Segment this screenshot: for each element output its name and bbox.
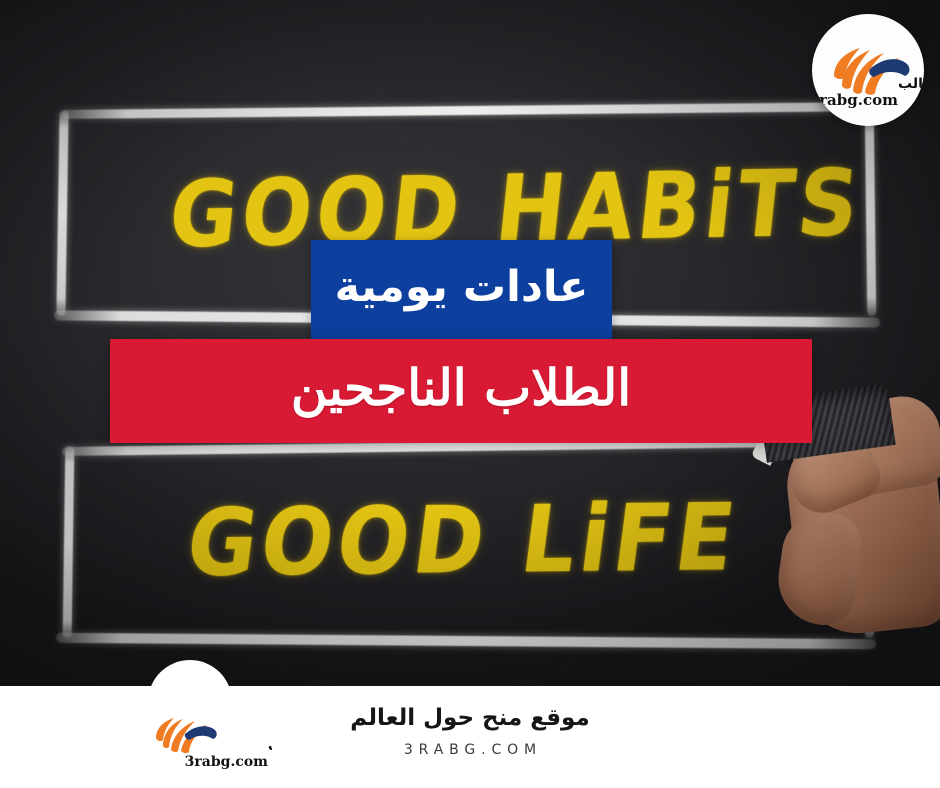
poster: GOOD HABiTS GOOD LiFE عادات يومية الطلاب… xyxy=(0,0,940,788)
footer-tagline: موقع منح حول العالم xyxy=(0,704,940,733)
headline-ribbon-red: الطلاب الناجحين xyxy=(110,339,812,443)
brand-logo-icon: دليل الطالب 3rabg.com xyxy=(812,14,924,126)
footer-text-block: موقع منح حول العالم 3RABG.COM xyxy=(0,704,940,758)
chalk-stroke-top xyxy=(62,102,878,119)
chalk-stroke-bottom xyxy=(56,633,876,649)
logo-arabic-name: دليل الطالب xyxy=(898,76,924,92)
logo-domain: 3rabg.com xyxy=(812,91,898,109)
chalk-heading-good-life: GOOD LiFE xyxy=(181,483,745,597)
chalk-stroke-left xyxy=(56,110,68,316)
headline-red-text: الطلاب الناجحين xyxy=(291,363,631,419)
chalk-stroke-left xyxy=(63,446,75,638)
footer-domain: 3RABG.COM xyxy=(0,742,940,758)
headline-ribbon-blue: عادات يومية xyxy=(311,240,612,339)
chalk-stroke-right xyxy=(865,108,877,316)
logo-badge: دليل الطالب 3rabg.com xyxy=(812,14,924,126)
headline-blue-text: عادات يومية xyxy=(335,266,589,313)
